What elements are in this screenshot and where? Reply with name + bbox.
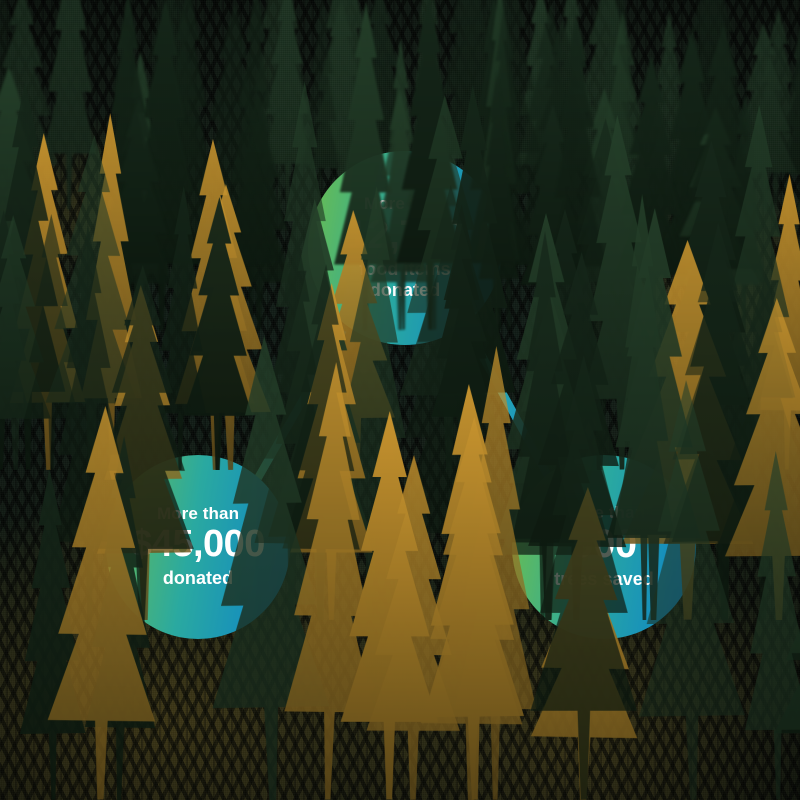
tree-shape bbox=[505, 355, 662, 800]
tree-shape bbox=[728, 451, 800, 800]
infographic-canvas: More than 12,720 food items donated More… bbox=[0, 0, 800, 800]
tree-silhouette bbox=[505, 355, 662, 800]
tree-shape bbox=[345, 455, 483, 800]
tree-silhouette bbox=[21, 405, 184, 800]
tree-silhouette bbox=[345, 455, 483, 800]
tree-shape bbox=[21, 405, 184, 800]
tree-silhouette bbox=[728, 451, 800, 800]
